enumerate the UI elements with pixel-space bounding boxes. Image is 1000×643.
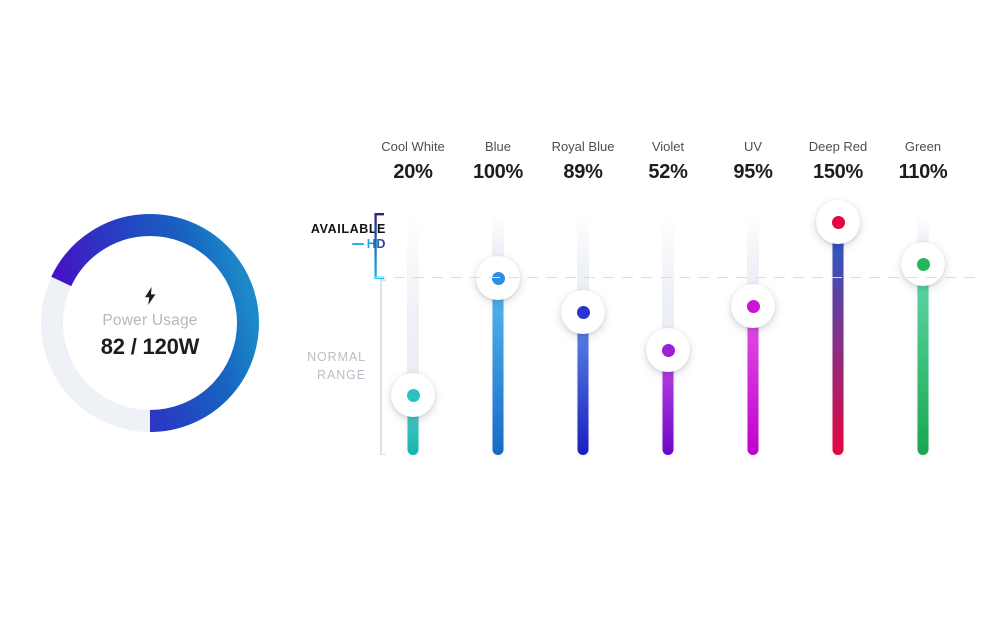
normal-range-line-2: RANGE	[286, 366, 366, 384]
channel-slider[interactable]	[540, 215, 626, 460]
channel-deep-red: Deep Red150%	[795, 140, 881, 184]
slider-thumb[interactable]	[391, 373, 435, 417]
normal-range-label: NORMAL RANGE	[286, 348, 366, 384]
channel-percent-value: 95%	[710, 161, 796, 184]
channel-percent-value: 52%	[625, 161, 711, 184]
channel-percent-value: 20%	[370, 161, 456, 184]
channel-name: Royal Blue	[540, 140, 626, 154]
channel-name: UV	[710, 140, 796, 154]
channel-slider[interactable]	[795, 215, 881, 460]
channel-uv: UV95%	[710, 140, 796, 184]
slider-thumb-dot	[492, 272, 505, 285]
slider-fill[interactable]	[748, 306, 759, 455]
channel-name: Blue	[455, 140, 541, 154]
channel-name: Cool White	[370, 140, 456, 154]
slider-thumb-dot	[407, 389, 420, 402]
channel-percent-value: 150%	[795, 161, 881, 184]
channel-percent-value: 100%	[455, 161, 541, 184]
slider-thumb[interactable]	[731, 284, 775, 328]
channel-percent-value: 110%	[880, 161, 966, 184]
slider-thumb-dot	[917, 258, 930, 271]
hd-dash-icon	[352, 243, 364, 245]
slider-thumb[interactable]	[816, 200, 860, 244]
channel-name: Deep Red	[795, 140, 881, 154]
slider-thumb[interactable]	[476, 256, 520, 300]
slider-fill[interactable]	[493, 278, 504, 455]
channel-percent-value: 89%	[540, 161, 626, 184]
hundred-percent-reference-line	[375, 277, 975, 278]
channel-cool-white: Cool White20%	[370, 140, 456, 184]
channel-slider[interactable]	[370, 215, 456, 460]
slider-thumb-dot	[577, 306, 590, 319]
slider-thumb[interactable]	[561, 290, 605, 334]
slider-fill[interactable]	[833, 222, 844, 455]
channel-royal-blue: Royal Blue89%	[540, 140, 626, 184]
channel-name: Green	[880, 140, 966, 154]
slider-track-empty[interactable]	[407, 215, 419, 395]
slider-thumb-dot	[662, 344, 675, 357]
channel-name: Violet	[625, 140, 711, 154]
power-usage-gauge: Power Usage 82 / 120W	[38, 196, 262, 450]
channel-blue: Blue100%	[455, 140, 541, 184]
channel-slider[interactable]	[880, 215, 966, 460]
power-gauge-svg	[38, 196, 262, 450]
slider-fill[interactable]	[918, 264, 929, 455]
channel-slider[interactable]	[455, 215, 541, 460]
slider-thumb[interactable]	[646, 328, 690, 372]
normal-range-line-1: NORMAL	[286, 348, 366, 366]
slider-thumb[interactable]	[901, 242, 945, 286]
channel-slider-group: Cool White20%Blue100%Royal Blue89%Violet…	[375, 140, 975, 460]
channel-violet: Violet52%	[625, 140, 711, 184]
slider-thumb-dot	[747, 300, 760, 313]
app-root: Power Usage 82 / 120W AVAILABLE HD NORMA…	[0, 0, 1000, 643]
channel-slider[interactable]	[625, 215, 711, 460]
channel-green: Green110%	[880, 140, 966, 184]
channel-slider[interactable]	[710, 215, 796, 460]
slider-thumb-dot	[832, 216, 845, 229]
